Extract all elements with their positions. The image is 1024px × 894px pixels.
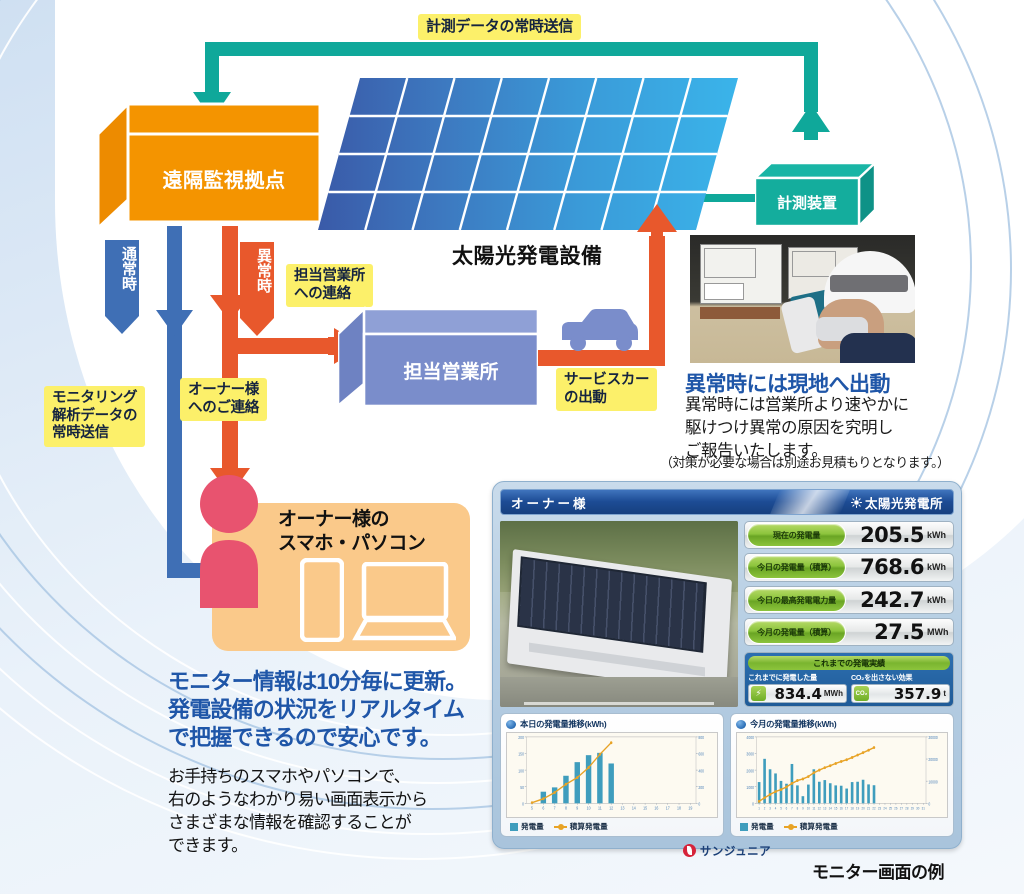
teal-pipe-right-down [804, 42, 818, 112]
svg-text:1: 1 [758, 806, 760, 810]
sun-icon [851, 497, 862, 508]
svg-text:5: 5 [780, 806, 782, 810]
chart-title-row: 今月の発電量推移(kWh) [736, 718, 948, 730]
branch-office-box: 担当営業所 [338, 306, 538, 406]
svg-text:12: 12 [818, 806, 821, 810]
svg-text:13: 13 [823, 806, 826, 810]
svg-text:600: 600 [698, 752, 704, 756]
svg-text:15: 15 [643, 805, 648, 810]
legend-bar-swatch [510, 823, 518, 831]
svg-text:26: 26 [894, 806, 897, 810]
svg-text:0: 0 [522, 802, 524, 806]
svg-text:20000: 20000 [928, 758, 937, 762]
svg-text:150: 150 [518, 752, 524, 756]
svg-text:200: 200 [698, 786, 704, 790]
solar-facility-caption: 太陽光発電設備 [452, 240, 603, 270]
svg-text:24: 24 [883, 806, 886, 810]
teal-arrow-up-head [792, 104, 830, 140]
svg-text:0: 0 [928, 802, 930, 806]
monitor-stats-column: 現在の発電量 205.5 kWh 今日の発電量（積算） 768.6 kWh 今日… [744, 521, 954, 707]
svg-text:30000: 30000 [928, 736, 937, 740]
svg-text:10000: 10000 [928, 780, 937, 784]
chart-title-row: 本日の発電量推移(kWh) [506, 718, 718, 730]
svg-text:13: 13 [621, 805, 626, 810]
sunjunior-logo-icon [683, 844, 696, 857]
performance-value: 357.9 [894, 685, 941, 703]
abnormal-time-label: 異常時 [243, 248, 271, 293]
svg-text:15: 15 [834, 806, 837, 810]
svg-text:9: 9 [576, 805, 578, 810]
svg-text:6: 6 [542, 805, 545, 810]
normal-time-label: 通常時 [108, 246, 136, 291]
stat-label: 今日の発電量（積算） [747, 555, 846, 579]
monitor-charts-row: 本日の発電量推移(kWh) 05010015020002004006008005… [500, 713, 954, 837]
svg-text:31: 31 [922, 806, 925, 810]
legend-bar-swatch [740, 823, 748, 831]
stat-value: 242.7 [846, 588, 927, 612]
header-sheen [770, 490, 850, 514]
pitch-heading: モニター情報は10分毎に更新。 発電設備の状況をリアルタイム で把握できるので安… [168, 668, 508, 752]
svg-text:28: 28 [905, 806, 908, 810]
chart-title: 本日の発電量推移(kWh) [520, 718, 606, 730]
svg-text:21: 21 [867, 806, 870, 810]
stat-label: 今月の発電量（積算） [747, 620, 846, 644]
stat-value: 205.5 [846, 523, 927, 547]
svg-text:14: 14 [632, 805, 637, 810]
svg-text:100: 100 [518, 769, 524, 773]
infographic-canvas: 計測データの常時送信 [0, 0, 1024, 894]
label-measurement-data: 計測データの常時送信 [418, 14, 581, 40]
measuring-device-box: 計測装置 [755, 160, 875, 226]
bolt-icon: ⚡ [751, 686, 766, 701]
legend-label: 積算発電量 [570, 821, 608, 832]
svg-text:18: 18 [677, 805, 682, 810]
svg-text:25: 25 [889, 806, 892, 810]
svg-text:27: 27 [900, 806, 903, 810]
red-pipe-to-office-horizontal [222, 338, 340, 354]
daily-chart-legend: 発電量 積算発電量 [506, 821, 718, 832]
legend-line-swatch [554, 826, 567, 828]
service-car-icon [556, 306, 642, 354]
svg-text:30: 30 [916, 806, 919, 810]
blue-arrow-midpoint [156, 306, 193, 336]
plant-aerial-photo [500, 521, 738, 707]
svg-text:18: 18 [851, 806, 854, 810]
pitch-body: お手持ちのスマホやパソコンで、 右のようなわかり易い画面表示から さまざまな情報… [168, 765, 508, 857]
svg-text:14: 14 [829, 806, 832, 810]
monitor-screen-mockup: オーナー様 太陽光発電所 [492, 481, 962, 849]
svg-text:1000: 1000 [746, 786, 754, 790]
red-arrow-up-to-solar [637, 204, 677, 240]
svg-text:11: 11 [812, 806, 815, 810]
legend-label: 積算発電量 [800, 821, 838, 832]
label-contact-branch-office: 担当営業所 への連絡 [286, 264, 373, 307]
performance-value: 834.4 [774, 685, 821, 703]
svg-text:17: 17 [845, 806, 848, 810]
svg-text:5: 5 [531, 805, 534, 810]
co2-icon: CO₂ [854, 686, 869, 701]
daily-chart-plot: 0501001502000200400600800567891011121314… [506, 732, 718, 818]
svg-text:12: 12 [609, 805, 613, 810]
legend-label: 発電量 [521, 821, 544, 832]
svg-text:3: 3 [769, 806, 771, 810]
svg-text:20: 20 [861, 806, 864, 810]
dispatch-note: （対策が必要な場合は別途お見積もりとなります。） [660, 452, 1024, 471]
stat-row: 今月の発電量（積算） 27.5 MWh [744, 618, 954, 646]
svg-text:9: 9 [802, 806, 804, 810]
laptop-icon [352, 562, 456, 642]
performance-unit: t [943, 689, 946, 698]
svg-text:0: 0 [698, 802, 700, 806]
monitor-body: 現在の発電量 205.5 kWh 今日の発電量（積算） 768.6 kWh 今日… [500, 521, 954, 707]
performance-title: これまでの発電実績 [748, 656, 950, 670]
svg-text:200: 200 [518, 736, 524, 740]
logo-text: サンジュニア [700, 843, 771, 859]
remote-monitoring-base-box: 遠隔監視拠点 [98, 100, 320, 228]
svg-text:4000: 4000 [746, 736, 754, 740]
owner-person-icon [196, 474, 262, 608]
stat-value: 768.6 [846, 555, 927, 579]
svg-text:10: 10 [587, 805, 592, 810]
measuring-device-label: 計測装置 [755, 178, 859, 226]
performance-unit: MWh [824, 689, 843, 698]
svg-text:6: 6 [786, 806, 788, 810]
red-pipe-servicecar-vertical [649, 236, 665, 366]
remote-monitoring-base-label: 遠隔監視拠点 [128, 134, 320, 222]
monitor-footer: サンジュニア [500, 842, 954, 859]
svg-text:0: 0 [752, 802, 754, 806]
owner-devices-label: オーナー様の スマホ・パソコン [278, 508, 425, 556]
daily-generation-chart-card: 本日の発電量推移(kWh) 05010015020002004006008005… [500, 713, 724, 837]
svg-text:23: 23 [878, 806, 881, 810]
monitor-header-owner: オーナー様 [511, 493, 589, 512]
svg-text:400: 400 [698, 769, 704, 773]
svg-text:800: 800 [698, 736, 704, 740]
chart-title: 今月の発電量推移(kWh) [750, 718, 836, 730]
svg-text:7: 7 [791, 806, 793, 810]
legend-line-swatch [784, 826, 797, 828]
bullet-icon [736, 720, 746, 729]
label-contact-owner: オーナー様 へのご連絡 [180, 378, 267, 421]
svg-text:16: 16 [840, 806, 843, 810]
svg-text:17: 17 [666, 805, 670, 810]
svg-text:7: 7 [554, 805, 556, 810]
stat-label: 今日の最高発電電力量 [747, 588, 846, 612]
label-service-car: サービスカー の出動 [556, 368, 657, 411]
stat-unit: kWh [927, 530, 953, 540]
svg-text:3000: 3000 [746, 752, 754, 756]
svg-text:19: 19 [856, 806, 859, 810]
monthly-chart-plot: 0100020003000400001000020000300001234567… [736, 732, 948, 818]
svg-text:2: 2 [764, 806, 766, 810]
svg-text:16: 16 [654, 805, 659, 810]
svg-text:19: 19 [688, 805, 692, 810]
cumulative-performance-box: これまでの発電実績 これまでに発電した量 ⚡ 834.4 MWh CO₂を出さな… [744, 652, 954, 707]
svg-text:4: 4 [775, 806, 777, 810]
legend-label: 発電量 [751, 821, 774, 832]
monthly-chart-legend: 発電量 積算発電量 [736, 821, 948, 832]
branch-office-label: 担当営業所 [364, 334, 538, 406]
stat-unit: MWh [927, 627, 953, 637]
technician-photo [690, 235, 915, 363]
monitor-header-plant: 太陽光発電所 [851, 493, 943, 512]
svg-text:11: 11 [598, 805, 602, 810]
svg-text:8: 8 [565, 805, 568, 810]
svg-text:29: 29 [911, 806, 914, 810]
bullet-icon [506, 720, 516, 729]
stat-row: 今日の最高発電電力量 242.7 kWh [744, 586, 954, 614]
label-monitoring-data: モニタリング 解析データの 常時送信 [44, 386, 145, 447]
performance-label: これまでに発電した量 [748, 673, 847, 683]
stat-unit: kWh [927, 562, 953, 572]
teal-pipe-horizontal [205, 42, 818, 56]
svg-text:8: 8 [797, 806, 799, 810]
svg-text:2000: 2000 [746, 769, 754, 773]
performance-label: CO₂を出さない効果 [851, 673, 950, 683]
performance-item: CO₂を出さない効果 CO₂ 357.9 t [851, 673, 950, 703]
plant-name-text: 太陽光発電所 [865, 493, 943, 512]
smartphone-icon [300, 558, 344, 642]
svg-text:22: 22 [872, 806, 875, 810]
svg-text:10: 10 [807, 806, 810, 810]
performance-item: これまでに発電した量 ⚡ 834.4 MWh [748, 673, 847, 703]
stat-value: 27.5 [846, 620, 927, 644]
monthly-generation-chart-card: 今月の発電量推移(kWh) 01000200030004000010000200… [730, 713, 954, 837]
monitor-header: オーナー様 太陽光発電所 [500, 489, 954, 515]
monitor-screen-caption: モニター画面の例 [812, 858, 944, 883]
stat-unit: kWh [927, 595, 953, 605]
svg-text:50: 50 [520, 786, 524, 790]
stat-label: 現在の発電量 [747, 523, 846, 547]
stat-row: 今日の発電量（積算） 768.6 kWh [744, 553, 954, 581]
stat-row: 現在の発電量 205.5 kWh [744, 521, 954, 549]
